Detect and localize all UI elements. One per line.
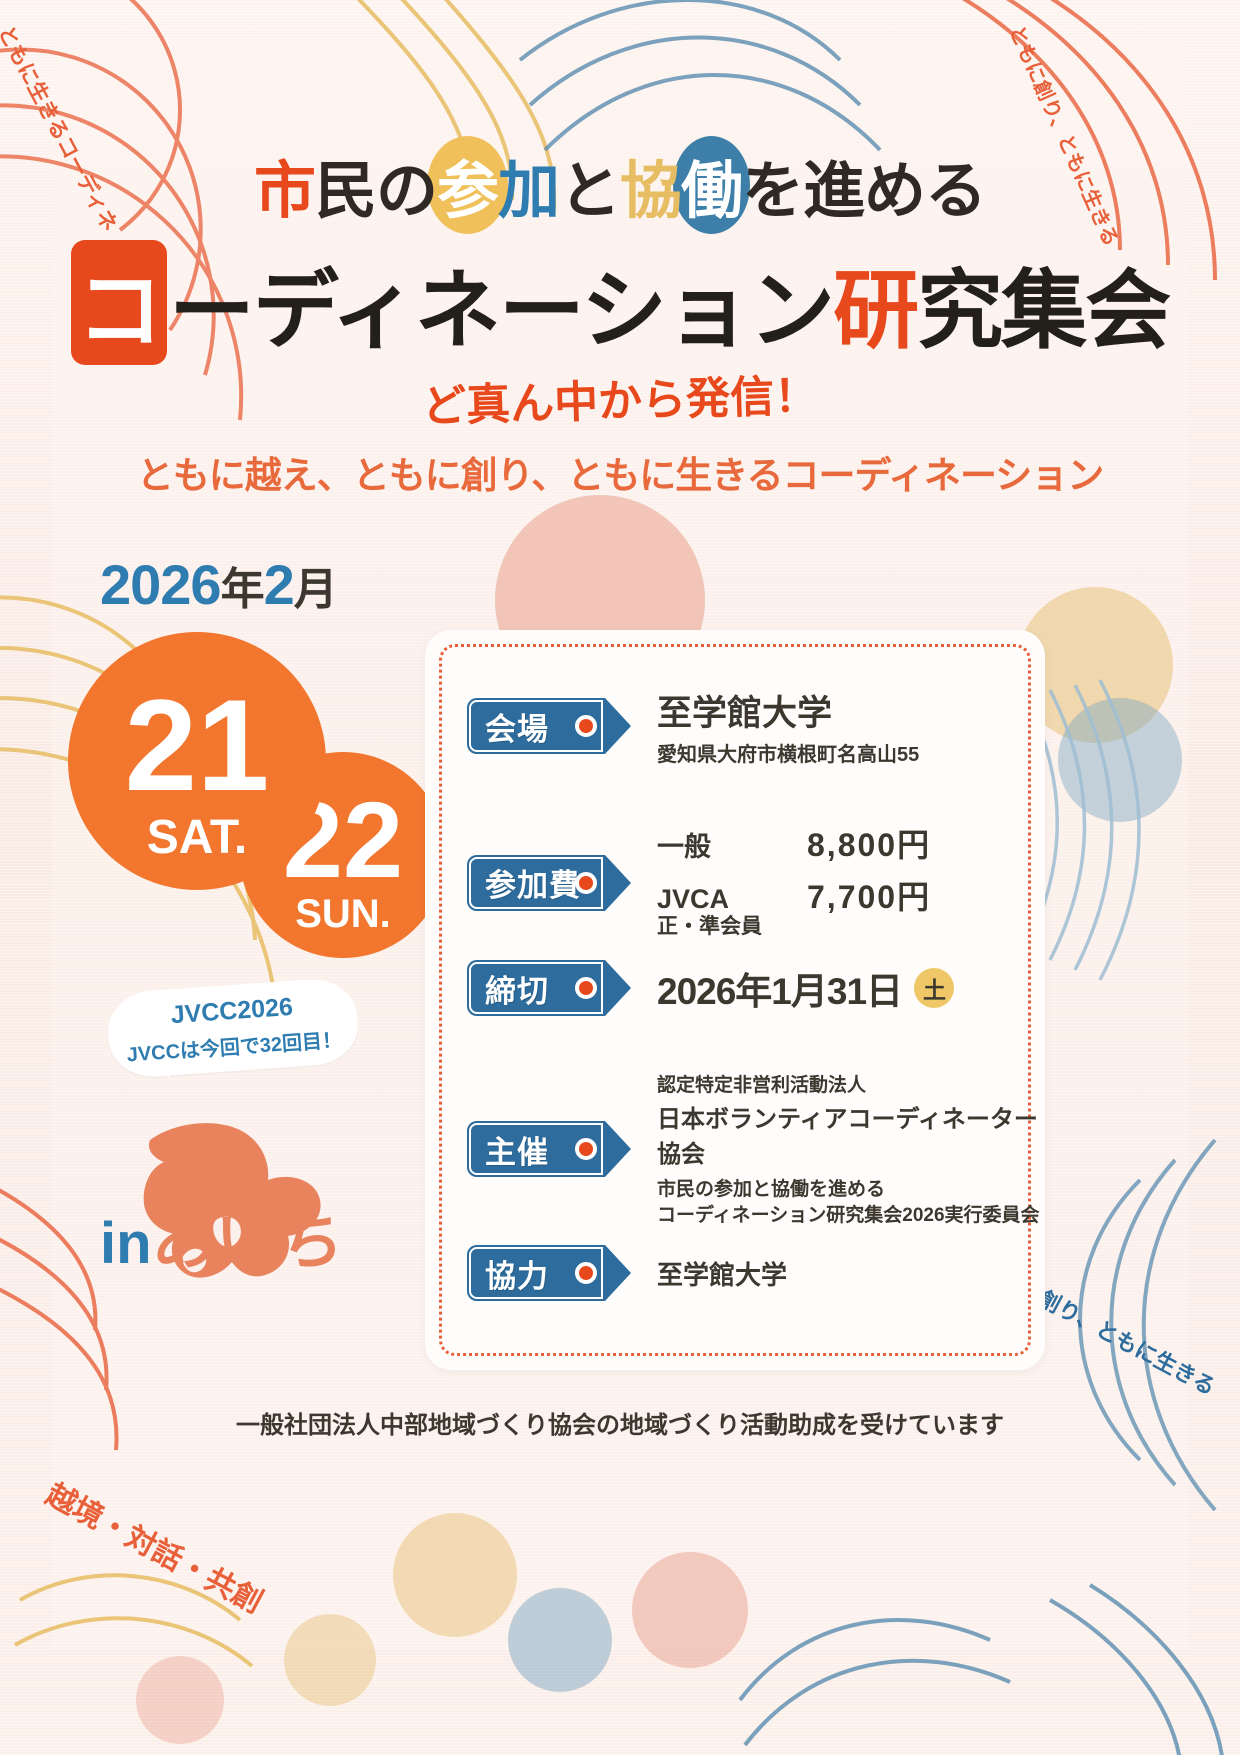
venue-name: 至学館大学 [657, 685, 919, 736]
fee-member-label: JVCA 正・準会員 [657, 884, 807, 939]
host-tag-label: 主催 [485, 1127, 549, 1172]
coop-tag: 協力 [467, 1245, 605, 1301]
fee-row-general: 一般 8,800円 [657, 820, 931, 866]
headline2-boxed-ko: コ [71, 240, 167, 365]
deadline-tag: 締切 [467, 960, 605, 1016]
fee-tag: 参加費 [467, 855, 605, 911]
headline-seg-susumeru: を進める [742, 157, 986, 226]
deadline-tag-label: 締切 [485, 966, 549, 1011]
date-22-weekday: SUN. [240, 892, 446, 937]
headline-seg-ka: 加 [498, 157, 559, 226]
host-committee-line1: 市民の参加と協働を進める [657, 1177, 1045, 1203]
fee-row-member: JVCA 正・準会員 7,700円 [657, 872, 931, 939]
headline-line-2: コーディネーション研究集会 [0, 240, 1240, 365]
host-tag: 主催 [467, 1121, 605, 1177]
jvcc-speech-bubble: JVCC2026 JVCCは今回で32回目！ [105, 976, 360, 1079]
fee-general-amount: 8,800円 [807, 820, 931, 866]
headline-seg-to: と [559, 157, 620, 226]
grant-footnote: 一般社団法人中部地域づくり協会の地域づくり活動助成を受けています [0, 1405, 1240, 1440]
info-row-host: 主催 認定特定非営利活動法人 日本ボランティアコーディネーター協会 市民の参加と… [467, 1070, 1045, 1228]
host-tag-dot-icon [575, 1138, 597, 1160]
host-committee-line2: コーディネーション研究集会2026実行委員会 [657, 1203, 1045, 1229]
info-card: 会場 至学館大学 愛知県大府市横根町名高山55 参加費 一般 8,800円 [425, 630, 1045, 1370]
fee-member-type: 正・準会員 [657, 915, 807, 939]
in-word: in [100, 1211, 152, 1276]
date-circle-21: 21 SAT. [68, 632, 326, 890]
headline-seg-san: 参 [437, 140, 498, 230]
date-21-weekday: SAT. [68, 810, 326, 865]
aichi-word: あいち [152, 1205, 344, 1277]
deadline-tag-dot-icon [575, 977, 597, 999]
venue-tag-label: 会場 [485, 704, 549, 749]
headline2-accent-ken: 研 [833, 263, 917, 359]
venue-tag-dot-icon [575, 715, 597, 737]
fee-member-amount: 7,700円 [807, 872, 931, 918]
deadline-value-block: 2026年1月31日 土 [657, 961, 954, 1015]
headline-line-1: 市民の参加と協働を進める [0, 140, 1240, 230]
month-number: 2 [264, 553, 294, 616]
headline-seg-do: 働 [681, 140, 742, 230]
month-kanji: 月 [294, 565, 337, 614]
year-number: 2026 [100, 553, 221, 616]
fee-tag-label: 参加費 [485, 860, 581, 905]
fee-general-label: 一般 [657, 832, 807, 863]
headline-seg-kyo: 協 [620, 157, 681, 226]
host-org-name: 日本ボランティアコーディネーター協会 [657, 1099, 1045, 1169]
info-row-fee: 参加費 一般 8,800円 JVCA 正・準会員 7,700円 [467, 820, 931, 945]
deadline-weekday-badge: 土 [914, 968, 954, 1008]
info-row-deadline: 締切 2026年1月31日 土 [467, 960, 954, 1016]
fee-tag-dot-icon [575, 872, 597, 894]
host-corp-type: 認定特定非営利活動法人 [657, 1070, 1045, 1097]
headline-seg-minno: 民の [315, 157, 437, 226]
venue-tag: 会場 [467, 698, 605, 754]
coop-value: 至学館大学 [657, 1255, 787, 1292]
coop-tag-dot-icon [575, 1262, 597, 1284]
headline2-tail: 究集会 [917, 263, 1169, 359]
headline-seg-shimin: 市 [254, 157, 315, 226]
date-21-number: 21 [68, 680, 326, 810]
info-row-venue: 会場 至学館大学 愛知県大府市横根町名高山55 [467, 685, 919, 767]
year-month: 2026年2月 [100, 552, 337, 617]
fee-member-org: JVCA [657, 884, 729, 914]
venue-value-block: 至学館大学 愛知県大府市横根町名高山55 [657, 685, 919, 767]
year-kanji: 年 [221, 565, 264, 614]
host-value-block: 認定特定非営利活動法人 日本ボランティアコーディネーター協会 市民の参加と協働を… [657, 1070, 1045, 1228]
coop-tag-label: 協力 [485, 1251, 549, 1296]
in-aichi-label: inあいち [100, 1190, 344, 1282]
info-row-cooperation: 協力 至学館大学 [467, 1245, 787, 1301]
deadline-date: 2026年1月31日 [657, 961, 902, 1015]
fee-table: 一般 8,800円 JVCA 正・準会員 7,700円 [657, 820, 931, 945]
venue-address: 愛知県大府市横根町名高山55 [657, 738, 919, 767]
headline2-rest: ーディネーション [169, 263, 833, 359]
tagline: ともに越え、ともに創り、ともに生きるコーディネーション [0, 445, 1240, 499]
